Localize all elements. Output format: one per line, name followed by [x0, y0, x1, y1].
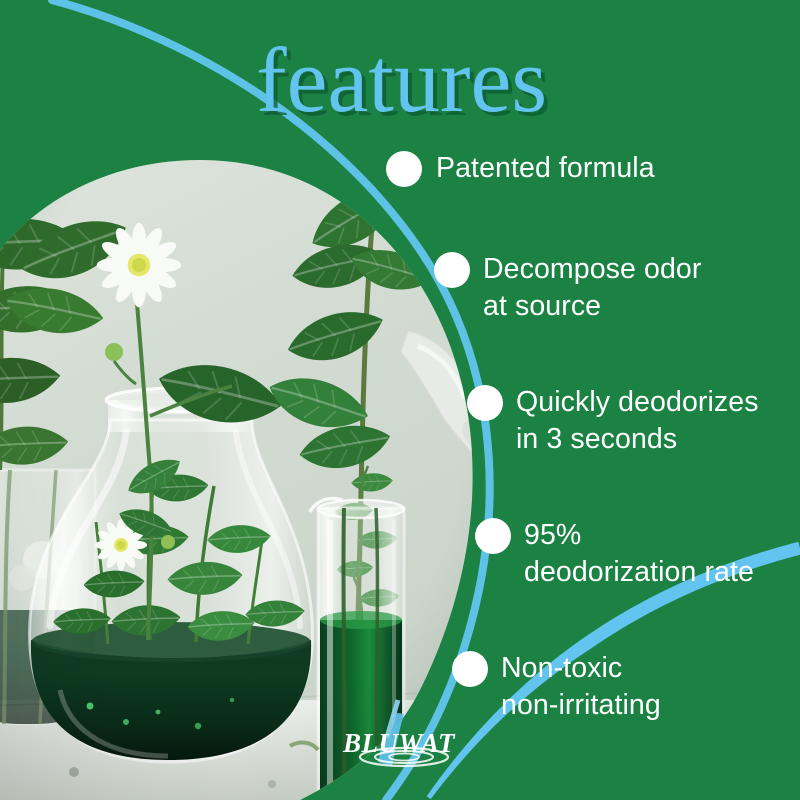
brand-logo[interactable]: BLUWAT [0, 0, 800, 800]
logo-wordmark: BLUWAT [342, 728, 456, 758]
features-poster: features features Patented formula Decom… [0, 0, 800, 800]
